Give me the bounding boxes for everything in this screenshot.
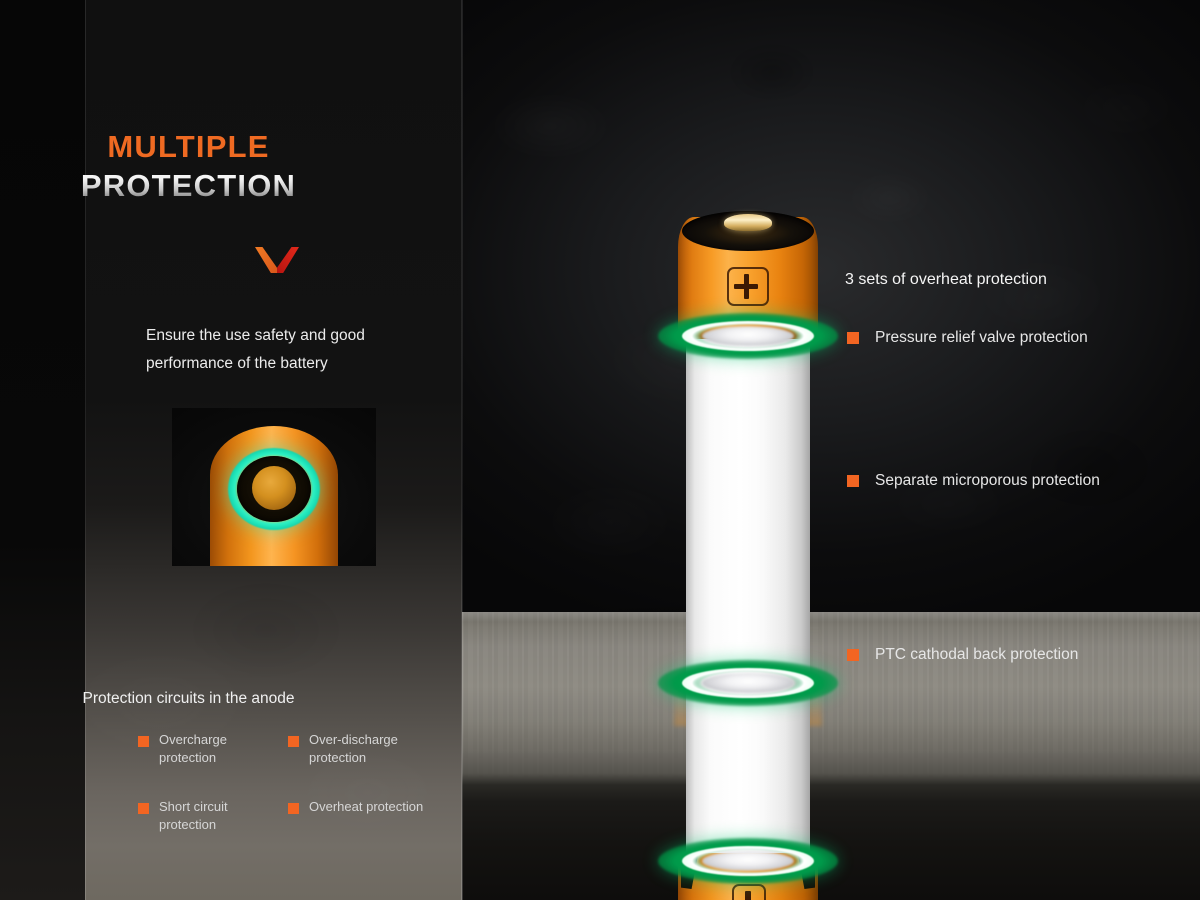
protection-circuits-list: Overcharge protection Over-discharge pro… [138, 731, 438, 834]
callout-ptc-cathodal-back: PTC cathodal back protection [847, 646, 1078, 664]
list-item-label: Over-discharge protection [309, 731, 429, 767]
list-item: Short circuit protection [138, 798, 288, 834]
chevron-down-icon [255, 247, 299, 273]
callout-label: Pressure relief valve protection [875, 329, 1088, 347]
chevron-left-half [255, 247, 277, 273]
battery-positive-nub [724, 214, 772, 231]
floor-front-edge [462, 612, 1200, 622]
callout-label: PTC cathodal back protection [875, 646, 1078, 664]
list-item-label: Short circuit protection [159, 798, 279, 834]
battery-body [686, 323, 810, 853]
panel-divider-right [461, 0, 463, 900]
lead-description: Ensure the use safety and good performan… [146, 322, 414, 378]
overheat-protection-ring-middle [658, 660, 838, 706]
ring-core-highlight [702, 673, 794, 693]
list-item-label: Overcharge protection [159, 731, 279, 767]
inset-terminal-button [252, 466, 296, 510]
overheat-protection-ring-top [658, 313, 838, 359]
terminal-closeup-photo [172, 408, 376, 566]
minus-icon [732, 884, 766, 900]
battery-product-image [674, 205, 822, 725]
list-item-label: Overheat protection [309, 798, 423, 816]
page-title: MULTIPLE PROTECTION [0, 128, 377, 206]
list-item: Over-discharge protection [288, 731, 438, 767]
bullet-square-icon [138, 736, 149, 747]
bullet-square-icon [138, 803, 149, 814]
callout-pressure-relief-valve: Pressure relief valve protection [847, 329, 1088, 347]
callout-label: Separate microporous protection [875, 472, 1100, 490]
chevron-right-half [277, 247, 299, 273]
list-item: Overcharge protection [138, 731, 288, 767]
product-scene [462, 0, 1200, 900]
list-item: Overheat protection [288, 798, 438, 834]
bullet-square-icon [847, 475, 859, 487]
bullet-square-icon [847, 649, 859, 661]
circuits-section-title: Protection circuits in the anode [0, 690, 377, 708]
plus-icon [727, 267, 769, 306]
title-line-secondary: PROTECTION [0, 166, 377, 206]
title-line-primary: MULTIPLE [0, 128, 377, 166]
ring-core-highlight [702, 851, 794, 871]
infographic-page: MULTIPLE PROTECTION Ensure the use safet… [0, 0, 1200, 900]
overheat-protection-ring-bottom [658, 838, 838, 884]
callout-separate-microporous: Separate microporous protection [847, 472, 1100, 490]
bullet-square-icon [847, 332, 859, 344]
ring-core-highlight [702, 326, 794, 346]
callouts-section-title: 3 sets of overheat protection [845, 271, 1047, 289]
bullet-square-icon [288, 736, 299, 747]
bullet-square-icon [288, 803, 299, 814]
